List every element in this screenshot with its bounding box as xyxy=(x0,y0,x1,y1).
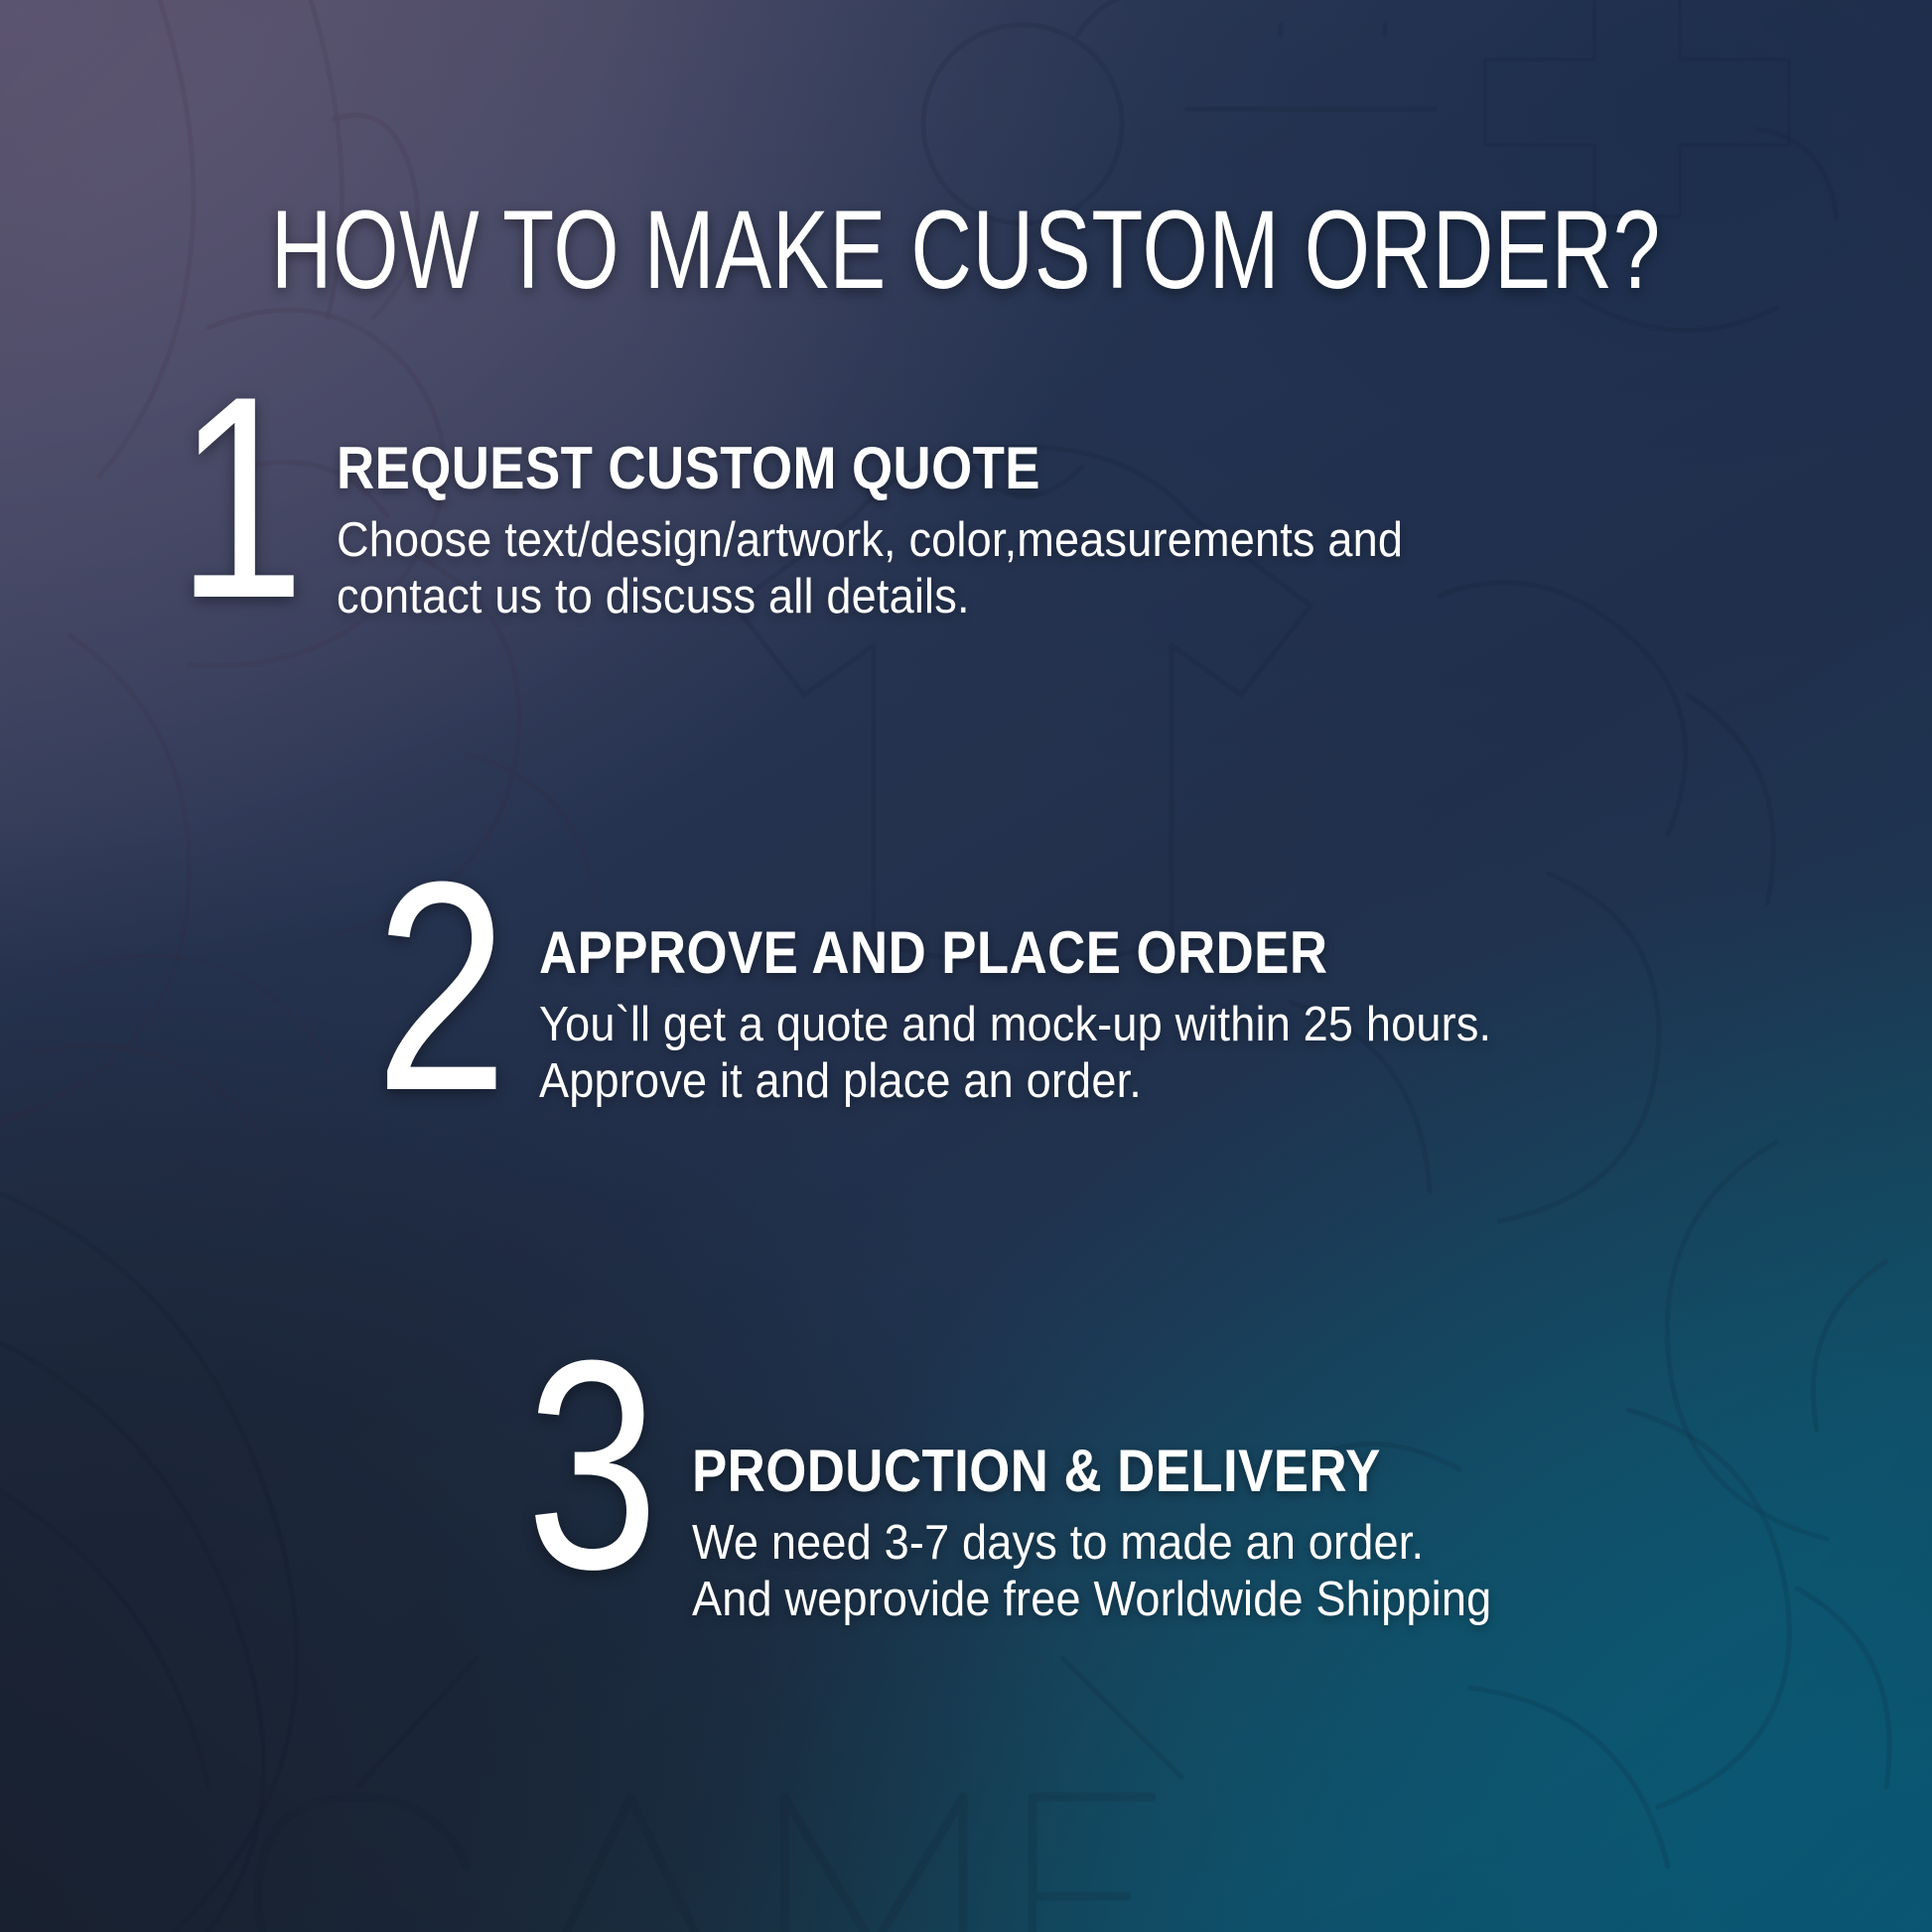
step-heading-1: REQUEST CUSTOM QUOTE xyxy=(337,439,1356,498)
step-item-2: 2 APPROVE AND PLACE ORDER You`ll get a q… xyxy=(375,911,1575,1110)
step-line-2-1: You`ll get a quote and mock-up within 25… xyxy=(539,997,1491,1053)
step-number-1: 1 xyxy=(177,409,300,588)
step-line-3-2: And weprovide free Worldwide Shipping xyxy=(692,1572,1491,1628)
step-heading-2: APPROVE AND PLACE ORDER xyxy=(539,923,1450,983)
step-content-3: PRODUCTION & DELIVERY We need 3-7 days t… xyxy=(692,1390,1561,1628)
step-line-1-2: contact us to discuss all details. xyxy=(337,569,1403,625)
step-item-1: 1 REQUEST CUSTOM QUOTE Choose text/desig… xyxy=(177,427,1496,625)
step-line-1-1: Choose text/design/artwork, color,measur… xyxy=(337,512,1403,569)
step-content-1: REQUEST CUSTOM QUOTE Choose text/design/… xyxy=(337,427,1496,625)
step-heading-3: PRODUCTION & DELIVERY xyxy=(692,1442,1456,1501)
step-number-2: 2 xyxy=(375,894,503,1078)
step-item-3: 3 PRODUCTION & DELIVERY We need 3-7 days… xyxy=(526,1390,1561,1628)
step-line-3-1: We need 3-7 days to made an order. xyxy=(692,1515,1491,1572)
page-title: HOW TO MAKE CUSTOM ORDER? xyxy=(232,195,1701,306)
infographic-canvas: HOW TO MAKE CUSTOM ORDER? 1 REQUEST CUST… xyxy=(0,0,1932,1932)
step-content-2: APPROVE AND PLACE ORDER You`ll get a quo… xyxy=(539,911,1575,1110)
step-number-3: 3 xyxy=(526,1372,654,1557)
step-line-2-2: Approve it and place an order. xyxy=(539,1053,1491,1110)
